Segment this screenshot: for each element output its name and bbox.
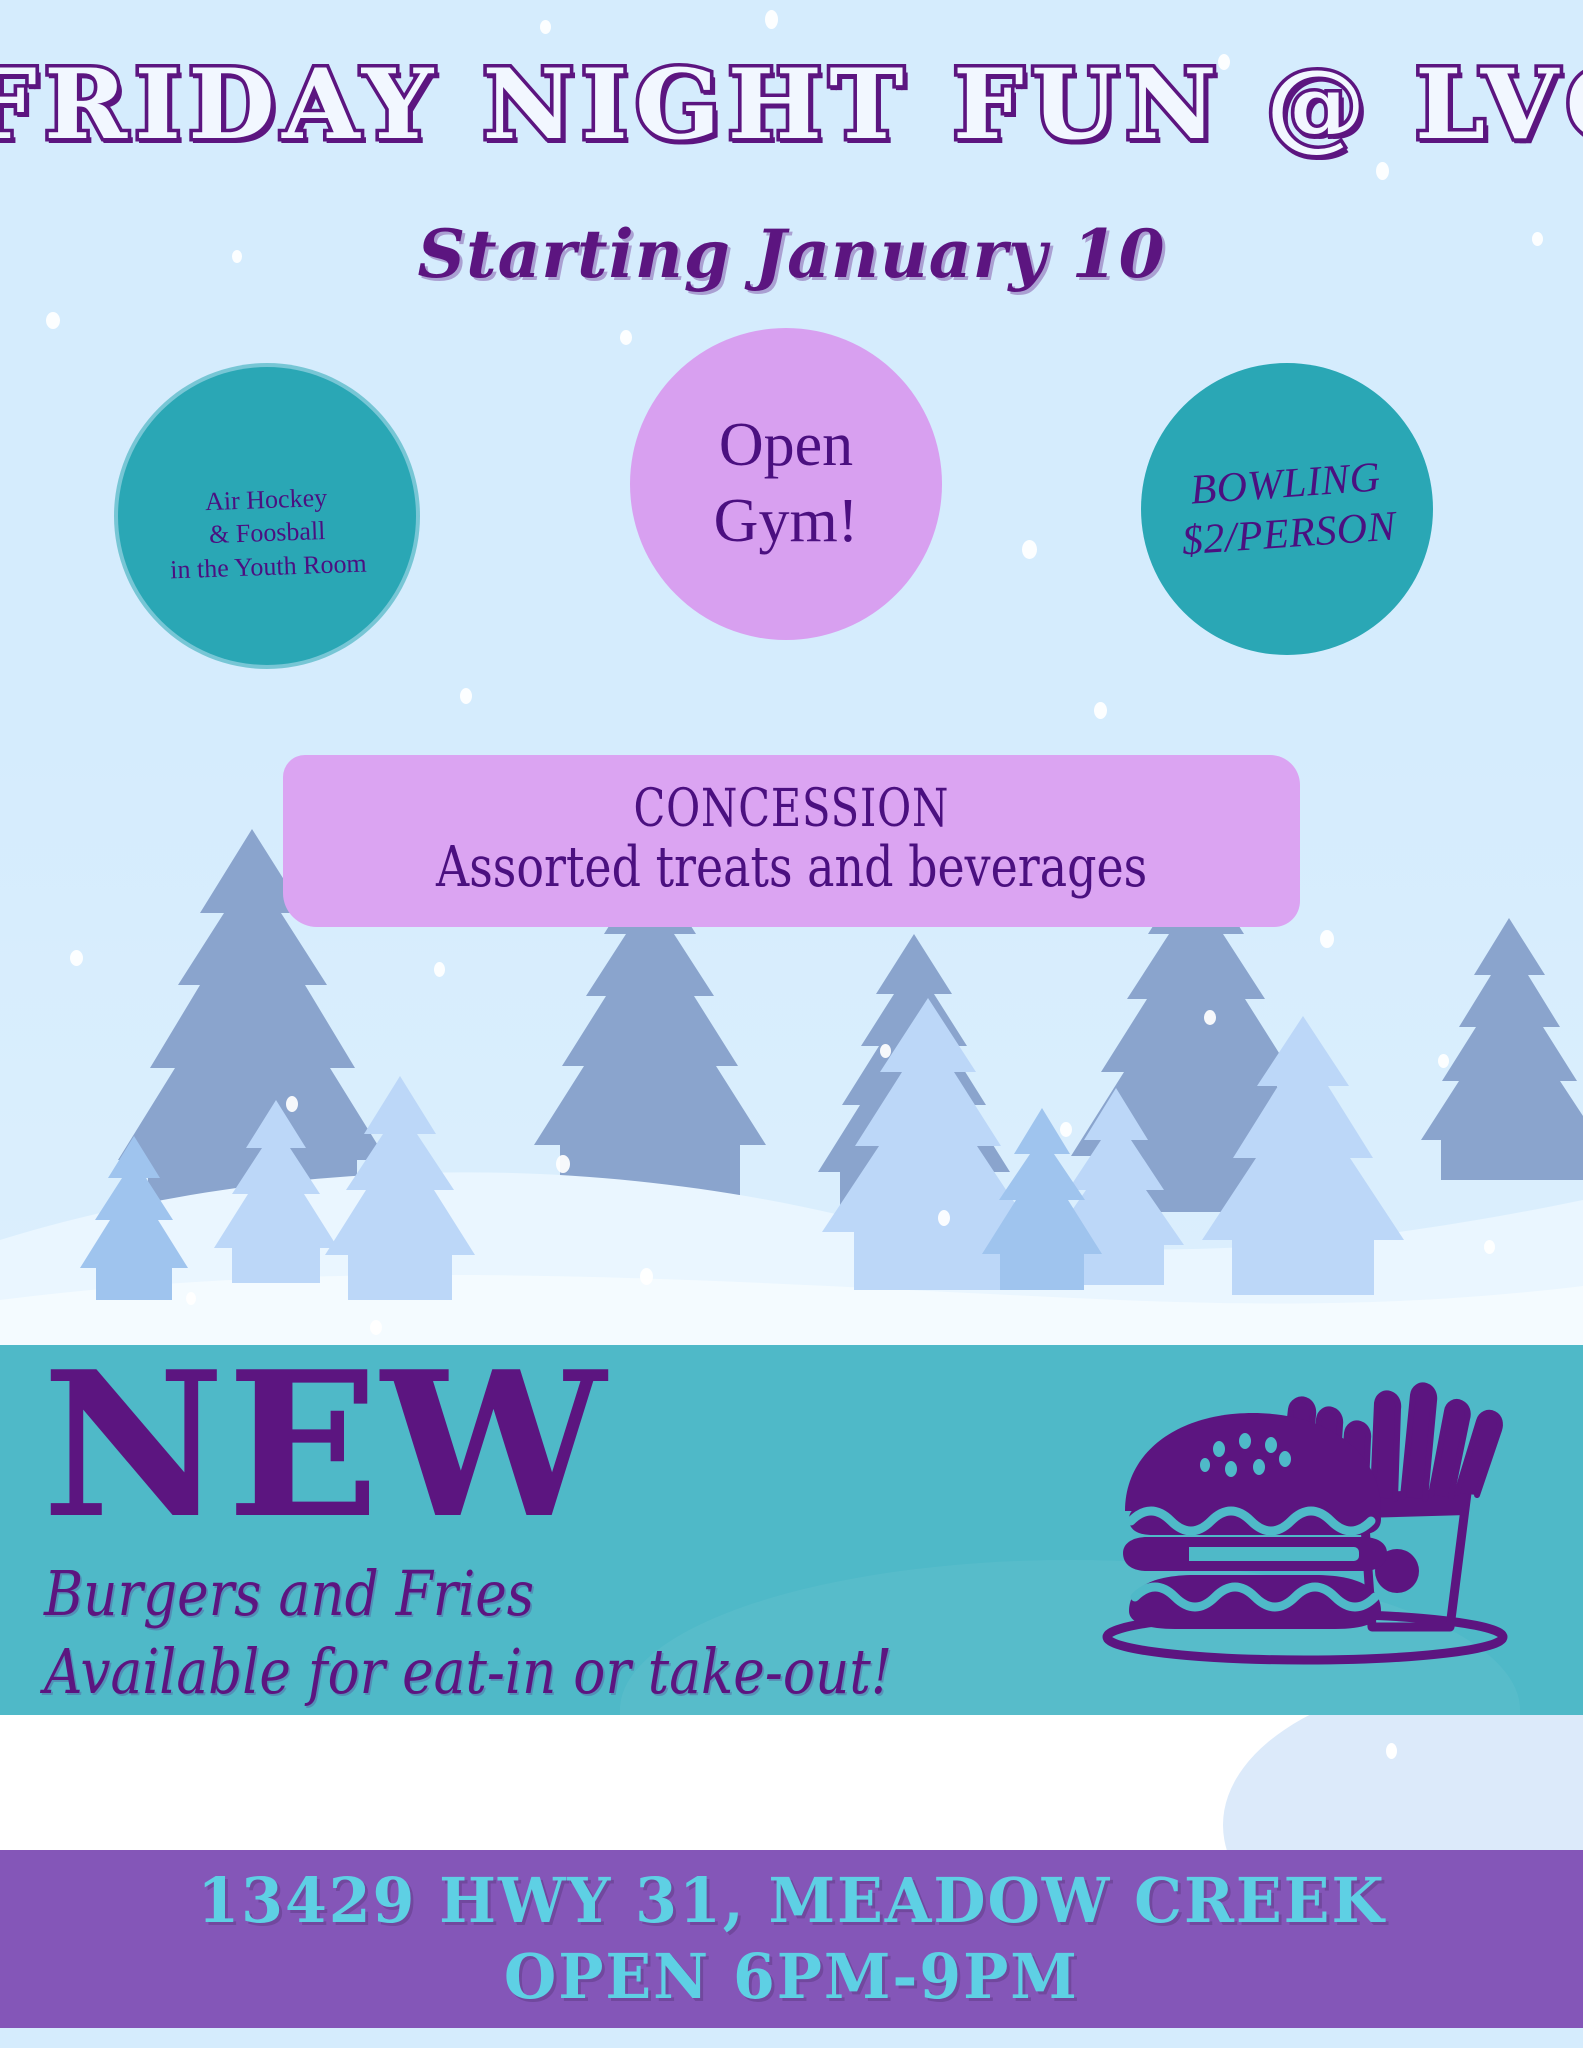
new-description-line-1: Burgers and Fries	[44, 1555, 892, 1633]
badge-open-gym-line-1: Open	[714, 408, 859, 484]
flyer-poster: FRIDAY NIGHT FUN @ LVCC Starting January…	[0, 0, 1583, 2048]
badge-open-gym: Open Gym!	[630, 328, 942, 640]
badge-open-gym-text: Open Gym!	[714, 408, 859, 559]
snowflake	[1386, 1743, 1397, 1759]
page-title: FRIDAY NIGHT FUN @ LVCC	[0, 48, 1583, 161]
page-subtitle: Starting January 10	[0, 215, 1583, 293]
new-description-line-2: Available for eat-in or take-out!	[44, 1633, 892, 1711]
badge-air-hockey-line-3: in the Youth Room	[169, 546, 367, 586]
badge-air-hockey: Air Hockey & Foosball in the Youth Room	[118, 367, 416, 665]
title-block: FRIDAY NIGHT FUN @ LVCC	[0, 48, 1583, 161]
concession-detail: Assorted treats and beverages	[436, 836, 1147, 900]
winter-scene	[0, 0, 1583, 1345]
badge-air-hockey-text: Air Hockey & Foosball in the Youth Room	[167, 480, 367, 587]
address-line-1: 13429 HWY 31, MEADOW CREEK	[197, 1863, 1385, 1939]
new-headline: NEW	[42, 1350, 608, 1542]
badge-bowling-text: BOWLING $2/PERSON	[1176, 451, 1397, 566]
concession-heading: CONCESSION	[634, 782, 950, 837]
white-divider-strip	[0, 1715, 1583, 1850]
snow-curve-shape	[1223, 1715, 1583, 1850]
badge-open-gym-line-2: Gym!	[714, 484, 859, 560]
badge-bowling: BOWLING $2/PERSON	[1141, 363, 1433, 655]
concession-banner: CONCESSION Assorted treats and beverages	[283, 755, 1300, 927]
address-line-2: OPEN 6PM-9PM	[504, 1939, 1079, 2015]
address-band: 13429 HWY 31, MEADOW CREEK OPEN 6PM-9PM	[0, 1850, 1583, 2028]
burger-and-fries-icon	[1095, 1375, 1515, 1665]
new-description: Burgers and Fries Available for eat-in o…	[44, 1555, 892, 1710]
